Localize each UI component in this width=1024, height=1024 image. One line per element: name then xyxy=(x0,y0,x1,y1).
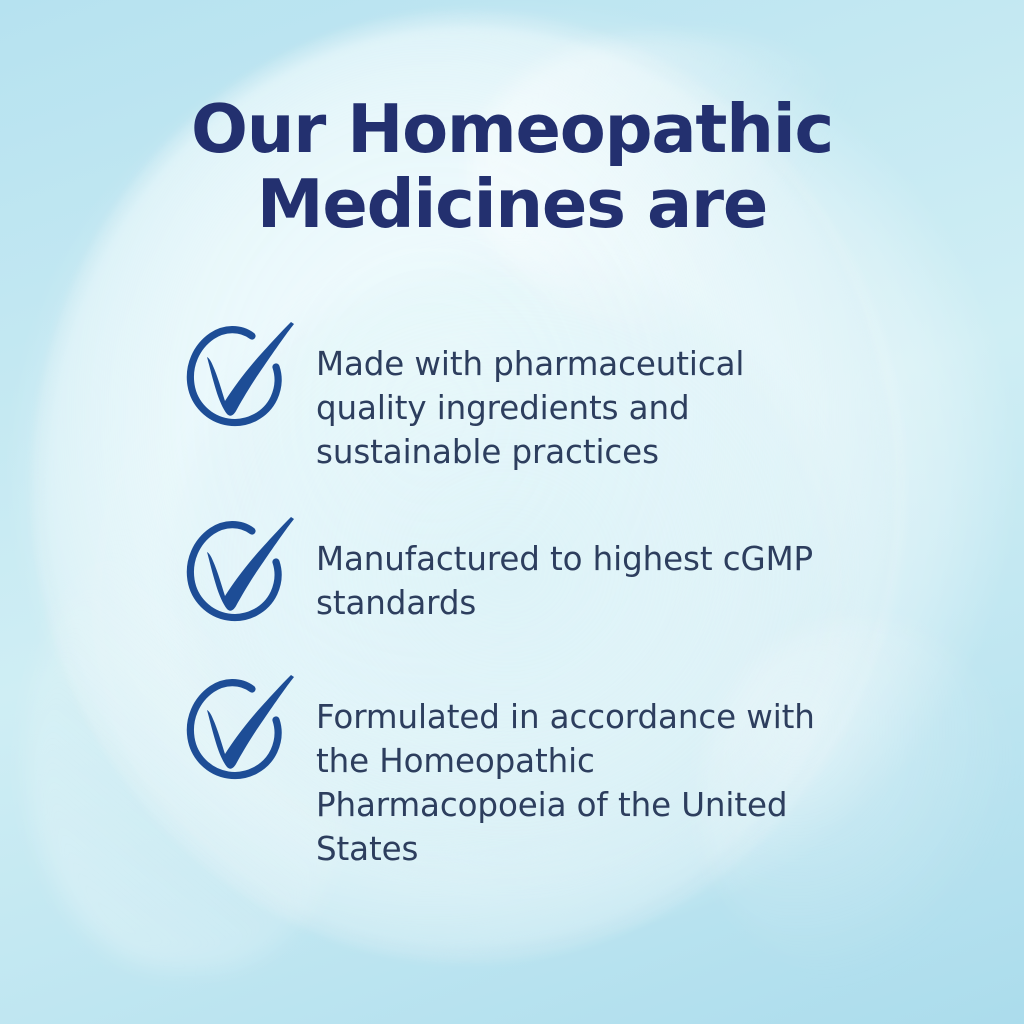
list-item-label: Manufactured to highest cGMP standards xyxy=(316,521,846,625)
list-item: Made with pharmaceutical quality ingredi… xyxy=(178,326,918,475)
page-title-line-2: Medicines are xyxy=(0,167,1024,242)
list-item-label: Formulated in accordance with the Homeop… xyxy=(316,679,846,872)
circle-check-icon xyxy=(178,515,300,633)
circle-check-icon xyxy=(178,320,300,438)
page-title: Our Homeopathic Medicines are xyxy=(0,92,1024,242)
circle-check-icon xyxy=(178,673,300,791)
promo-poster: Our Homeopathic Medicines are Made with … xyxy=(0,0,1024,1024)
list-item: Manufactured to highest cGMP standards xyxy=(178,521,918,633)
poster-content: Our Homeopathic Medicines are Made with … xyxy=(0,0,1024,1024)
list-item-label: Made with pharmaceutical quality ingredi… xyxy=(316,326,846,475)
feature-list: Made with pharmaceutical quality ingredi… xyxy=(178,326,918,871)
page-title-line-1: Our Homeopathic xyxy=(0,92,1024,167)
list-item: Formulated in accordance with the Homeop… xyxy=(178,679,918,872)
